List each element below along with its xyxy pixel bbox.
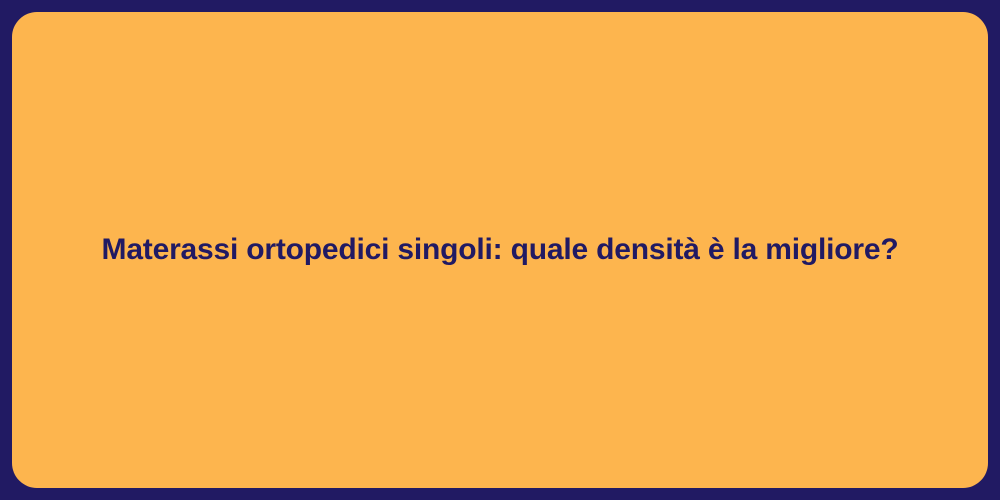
banner-outer-frame: Materassi ortopedici singoli: quale dens…	[0, 0, 1000, 500]
banner-card: Materassi ortopedici singoli: quale dens…	[12, 12, 988, 488]
page-title: Materassi ortopedici singoli: quale dens…	[102, 230, 899, 271]
